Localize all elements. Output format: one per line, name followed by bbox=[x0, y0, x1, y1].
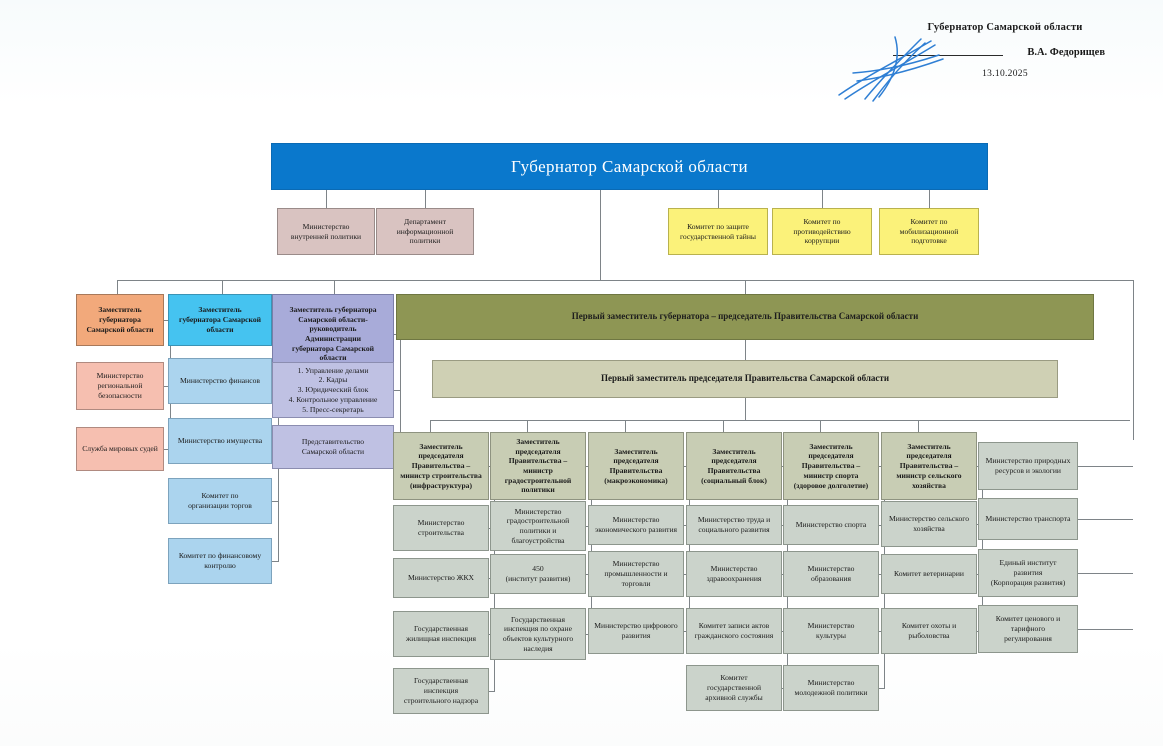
deputy-1-child-0[interactable]: Министерство финансов bbox=[168, 358, 272, 404]
connector bbox=[929, 190, 930, 208]
connector-vice-bus bbox=[430, 420, 1130, 421]
vice-5-child-0[interactable]: Министерство сельскогохозяйства bbox=[881, 501, 977, 547]
deputy-head-1-label: Заместительгубернатора Самарскойобласти bbox=[172, 305, 268, 334]
connector bbox=[489, 691, 495, 692]
vice-0-child-2-label: Государственнаяжилищная инспекция bbox=[397, 624, 485, 643]
vice-5-child-1-label: Комитет ветеринарии bbox=[885, 569, 973, 579]
deputy-1-child-0-label: Министерство финансов bbox=[172, 376, 268, 386]
signature-date: 13.10.2025 bbox=[905, 69, 1105, 79]
vice-2-child-2-label: Министерство цифровогоразвития bbox=[592, 621, 680, 640]
vice-1-child-1[interactable]: 450(институт развития) bbox=[490, 554, 586, 594]
connector-deputy-bus bbox=[117, 280, 1133, 281]
vice-head-4[interactable]: ЗаместительпредседателяПравительства –ми… bbox=[783, 432, 879, 500]
vice-head-3[interactable]: ЗаместительпредседателяПравительства(соц… bbox=[686, 432, 782, 500]
deputy-2-child-0-label: 1. Управление делами2. Кадры3. Юридическ… bbox=[276, 366, 390, 415]
signature-block: Губернатор Самарской области В.А. Федори… bbox=[905, 22, 1105, 79]
right-column-2[interactable]: Единый институтразвития(Корпорация разви… bbox=[978, 549, 1078, 597]
deputy-1-child-3[interactable]: Комитет по финансовомуконтролю bbox=[168, 538, 272, 584]
deputy-head-0-label: ЗаместительгубернатораСамарской области bbox=[80, 305, 160, 334]
connector bbox=[745, 398, 746, 420]
deputy-0-child-1[interactable]: Служба мировых судей bbox=[76, 427, 164, 471]
gov-committee-0[interactable]: Комитет по защитегосударственной тайны bbox=[668, 208, 768, 255]
connector bbox=[918, 420, 919, 432]
right-column-0-label: Министерство природныхресурсов и экологи… bbox=[982, 456, 1074, 475]
vice-5-child-0-label: Министерство сельскогохозяйства bbox=[885, 514, 973, 533]
vice-4-child-2[interactable]: Министерствокультуры bbox=[783, 608, 879, 654]
vice-head-5[interactable]: ЗаместительпредседателяПравительства –ми… bbox=[881, 432, 977, 500]
vice-3-child-2[interactable]: Комитет записи актовгражданского состоян… bbox=[686, 608, 782, 654]
vice-3-child-0-label: Министерство труда исоциального развития bbox=[690, 515, 778, 534]
vice-head-3-label: ЗаместительпредседателяПравительства(соц… bbox=[690, 447, 778, 486]
gov-committee-0-label: Комитет по защитегосударственной тайны bbox=[672, 222, 764, 241]
vice-head-0-label: ЗаместительпредседателяПравительства –ми… bbox=[397, 442, 485, 491]
connector bbox=[272, 561, 279, 562]
right-column-1[interactable]: Министерство транспорта bbox=[978, 498, 1078, 540]
vice-2-child-0[interactable]: Министерствоэкономического развития bbox=[588, 505, 684, 545]
right-column-0[interactable]: Министерство природныхресурсов и экологи… bbox=[978, 442, 1078, 490]
deputy-head-1[interactable]: Заместительгубернатора Самарскойобласти bbox=[168, 294, 272, 346]
deputy-0-child-1-label: Служба мировых судей bbox=[80, 444, 160, 454]
vice-5-child-1[interactable]: Комитет ветеринарии bbox=[881, 554, 977, 594]
connector bbox=[745, 340, 746, 360]
deputy-1-child-1[interactable]: Министерство имущества bbox=[168, 418, 272, 464]
vice-0-child-3[interactable]: Государственнаяинспекциястроительного на… bbox=[393, 668, 489, 714]
connector bbox=[1078, 466, 1133, 467]
connector-main-vertical bbox=[600, 190, 601, 280]
vice-0-child-0-label: Министерствостроительства bbox=[397, 518, 485, 537]
connector-right-bus bbox=[1133, 280, 1134, 440]
vice-3-child-2-label: Комитет записи актовгражданского состоян… bbox=[690, 621, 778, 640]
signature-line-row: В.А. Федорищев bbox=[905, 39, 1105, 65]
first-vice-box-label: Первый заместитель председателя Правител… bbox=[436, 373, 1054, 385]
vice-1-child-0-label: Министерствоградостроительнойполитики иб… bbox=[494, 507, 582, 546]
vice-2-child-0-label: Министерствоэкономического развития bbox=[592, 515, 680, 534]
vice-5-child-2-label: Комитет охоты ирыболовства bbox=[885, 621, 973, 640]
vice-5-child-2[interactable]: Комитет охоты ирыболовства bbox=[881, 608, 977, 654]
connector bbox=[334, 280, 335, 294]
connector bbox=[1078, 629, 1133, 630]
vice-head-1-label: ЗаместительпредседателяПравительства –ми… bbox=[494, 437, 582, 495]
vice-0-child-1[interactable]: Министерство ЖКХ bbox=[393, 558, 489, 598]
vice-head-5-label: ЗаместительпредседателяПравительства –ми… bbox=[885, 442, 973, 491]
vice-4-child-1-label: Министерствообразования bbox=[787, 564, 875, 583]
gov-direct-left-0[interactable]: Министерствовнутренней политики bbox=[277, 208, 375, 255]
vice-head-2[interactable]: ЗаместительпредседателяПравительства(мак… bbox=[588, 432, 684, 500]
vice-4-child-0[interactable]: Министерство спорта bbox=[783, 505, 879, 545]
connector bbox=[326, 190, 327, 208]
right-column-3-label: Комитет ценового итарифногорегулирования bbox=[982, 614, 1074, 643]
deputy-1-child-2[interactable]: Комитет поорганизации торгов bbox=[168, 478, 272, 524]
connector bbox=[527, 420, 528, 432]
deputy-2-child-1-label: ПредставительствоСамарской области bbox=[276, 437, 390, 456]
connector-col-stem bbox=[400, 334, 401, 447]
connector bbox=[430, 420, 431, 432]
vice-0-child-2[interactable]: Государственнаяжилищная инспекция bbox=[393, 611, 489, 657]
connector bbox=[879, 688, 885, 689]
root-governor-box[interactable]: Губернатор Самарской области bbox=[271, 143, 988, 190]
vice-1-child-1-label: 450(институт развития) bbox=[494, 564, 582, 583]
vice-0-child-3-label: Государственнаяинспекциястроительного на… bbox=[397, 676, 485, 705]
deputy-1-child-3-label: Комитет по финансовомуконтролю bbox=[172, 551, 268, 570]
gov-committee-2-label: Комитет помобилизационнойподготовке bbox=[883, 217, 975, 246]
premier-box-label: Первый заместитель губернатора – председ… bbox=[400, 311, 1090, 323]
vice-head-1[interactable]: ЗаместительпредседателяПравительства –ми… bbox=[490, 432, 586, 500]
right-column-1-label: Министерство транспорта bbox=[982, 514, 1074, 524]
vice-3-child-0[interactable]: Министерство труда исоциального развития bbox=[686, 505, 782, 545]
vice-1-child-0[interactable]: Министерствоградостроительнойполитики иб… bbox=[490, 501, 586, 551]
connector bbox=[625, 420, 626, 432]
vice-3-child-3[interactable]: Комитетгосударственнойархивной службы bbox=[686, 665, 782, 711]
signature-title: Губернатор Самарской области bbox=[905, 22, 1105, 33]
connector bbox=[822, 190, 823, 208]
deputy-0-child-0[interactable]: Министерстворегиональнойбезопасности bbox=[76, 362, 164, 410]
deputy-head-0[interactable]: ЗаместительгубернатораСамарской области bbox=[76, 294, 164, 346]
connector bbox=[723, 420, 724, 432]
vice-0-child-0[interactable]: Министерствостроительства bbox=[393, 505, 489, 551]
vice-4-child-3[interactable]: Министерствомолодежной политики bbox=[783, 665, 879, 711]
vice-2-child-1-label: Министерствопромышленности иторговли bbox=[592, 559, 680, 588]
gov-direct-left-1-label: Департаментинформационнойполитики bbox=[380, 217, 470, 246]
deputy-1-child-1-label: Министерство имущества bbox=[172, 436, 268, 446]
connector bbox=[222, 280, 223, 294]
connector bbox=[117, 280, 118, 294]
connector bbox=[1078, 519, 1133, 520]
vice-1-child-2-label: Государственнаяинспекция по охранеобъект… bbox=[494, 615, 582, 654]
deputy-2-child-0[interactable]: 1. Управление делами2. Кадры3. Юридическ… bbox=[272, 362, 394, 418]
vice-4-child-1[interactable]: Министерствообразования bbox=[783, 551, 879, 597]
gov-direct-left-0-label: Министерствовнутренней политики bbox=[281, 222, 371, 241]
vice-3-child-1[interactable]: Министерствоздравоохранения bbox=[686, 551, 782, 597]
vice-head-2-label: ЗаместительпредседателяПравительства(мак… bbox=[592, 447, 680, 486]
gov-direct-left-1[interactable]: Департаментинформационнойполитики bbox=[376, 208, 474, 255]
connector bbox=[718, 190, 719, 208]
first-vice-box[interactable]: Первый заместитель председателя Правител… bbox=[432, 360, 1058, 398]
premier-box[interactable]: Первый заместитель губернатора – председ… bbox=[396, 294, 1094, 340]
vice-4-child-2-label: Министерствокультуры bbox=[787, 621, 875, 640]
right-column-2-label: Единый институтразвития(Корпорация разви… bbox=[982, 558, 1074, 587]
vice-head-4-label: ЗаместительпредседателяПравительства –ми… bbox=[787, 442, 875, 491]
signature-name: В.А. Федорищев bbox=[1027, 47, 1105, 58]
connector bbox=[745, 280, 746, 294]
gov-committee-1-label: Комитет попротиводействиюкоррупции bbox=[776, 217, 868, 246]
vice-head-0[interactable]: ЗаместительпредседателяПравительства –ми… bbox=[393, 432, 489, 500]
vice-4-child-3-label: Министерствомолодежной политики bbox=[787, 678, 875, 697]
connector bbox=[820, 420, 821, 432]
vice-0-child-1-label: Министерство ЖКХ bbox=[397, 573, 485, 583]
gov-committee-2[interactable]: Комитет помобилизационнойподготовке bbox=[879, 208, 979, 255]
vice-3-child-3-label: Комитетгосударственнойархивной службы bbox=[690, 673, 778, 702]
vice-2-child-1[interactable]: Министерствопромышленности иторговли bbox=[588, 551, 684, 597]
vice-2-child-2[interactable]: Министерство цифровогоразвития bbox=[588, 608, 684, 654]
vice-3-child-1-label: Министерствоздравоохранения bbox=[690, 564, 778, 583]
signature-rule bbox=[893, 55, 1003, 56]
vice-4-child-0-label: Министерство спорта bbox=[787, 520, 875, 530]
deputy-2-child-1[interactable]: ПредставительствоСамарской области bbox=[272, 425, 394, 469]
right-column-3[interactable]: Комитет ценового итарифногорегулирования bbox=[978, 605, 1078, 653]
gov-committee-1[interactable]: Комитет попротиводействиюкоррупции bbox=[772, 208, 872, 255]
connector bbox=[425, 190, 426, 208]
connector bbox=[1078, 573, 1133, 574]
vice-1-child-2[interactable]: Государственнаяинспекция по охранеобъект… bbox=[490, 608, 586, 660]
deputy-1-child-2-label: Комитет поорганизации торгов bbox=[172, 491, 268, 510]
deputy-head-2-label: Заместитель губернатораСамарской области… bbox=[276, 305, 390, 363]
deputy-0-child-0-label: Министерстворегиональнойбезопасности bbox=[80, 371, 160, 400]
